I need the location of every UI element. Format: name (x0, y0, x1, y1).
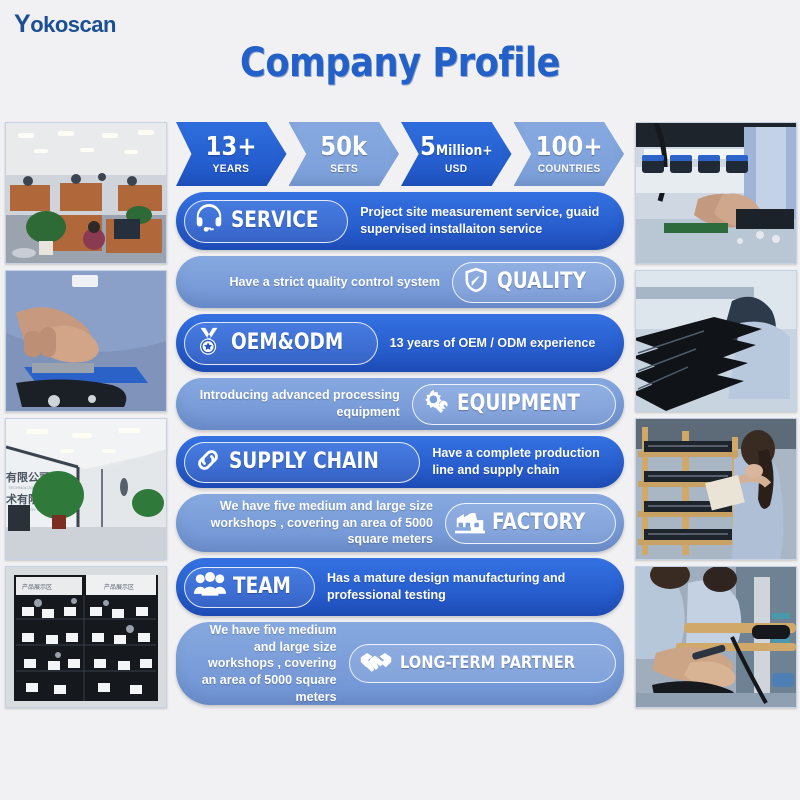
shield-icon (462, 266, 490, 299)
feature-description-supply-chain: Have a complete production line and supp… (422, 445, 618, 478)
feature-description-factory: We have five medium and large size works… (182, 498, 443, 548)
stat-revenue-suffix: + (482, 143, 492, 159)
people-icon (194, 571, 226, 604)
stat-sets-value: 50k (320, 134, 367, 160)
stat-revenue-number: 5 (420, 132, 436, 162)
stat-revenue-label: USD (445, 163, 467, 175)
handshake-icon (359, 648, 393, 679)
feature-row-long-term-partner: LONG-TERM PARTNER We have five medium an… (176, 622, 624, 705)
brand-logo-initial: Y (14, 10, 30, 38)
feature-description-equipment: Introducing advanced processing equipmen… (182, 387, 410, 420)
stat-years: 13+ YEARS (176, 122, 287, 186)
inspection-rack-worker-photo (635, 418, 797, 560)
brand-logo: Yokoscan (14, 10, 116, 39)
brand-logo-text: okoscan (30, 12, 116, 37)
factory-icon (455, 507, 485, 540)
feature-row-quality: QUALITY Have a strict quality control sy… (176, 256, 624, 308)
feature-description-long-term-partner: We have five medium and large size works… (182, 622, 347, 705)
stat-countries-label: COUNTRIES (537, 163, 600, 175)
feature-row-service: SERVICE Project site measurement service… (176, 192, 624, 250)
stat-sets: 50k SETS (289, 122, 400, 186)
finished-units-row-photo (635, 270, 797, 412)
feature-label-long-term-partner: LONG-TERM PARTNER (349, 644, 616, 683)
feature-label-text-supply-chain: SUPPLY CHAIN (229, 451, 379, 474)
svg-text:产品展示区: 产品展示区 (104, 583, 134, 591)
feature-description-quality: Have a strict quality control system (182, 274, 450, 291)
stat-years-suffix: + (238, 132, 257, 162)
feature-label-text-quality: QUALITY (497, 271, 586, 294)
feature-label-equipment: EQUIPMENT (412, 384, 616, 425)
assembly-line-worker-photo (635, 122, 797, 264)
feature-label-quality: QUALITY (452, 262, 616, 303)
feature-label-service: SERVICE (184, 200, 348, 243)
stat-years-number: 13 (206, 132, 238, 162)
open-plan-office-photo (5, 122, 167, 264)
feature-row-factory: FACTORY We have five medium and large si… (176, 494, 624, 552)
stat-years-value: 13+ (206, 134, 257, 160)
stat-revenue: 5Million+ USD (401, 122, 512, 186)
technician-assembling-device-photo (5, 270, 167, 412)
feature-label-text-factory: FACTORY (492, 512, 585, 535)
workers-testing-bench-photo (635, 566, 797, 708)
svg-text:产品展示区: 产品展示区 (22, 583, 52, 591)
feature-row-supply-chain: SUPPLY CHAIN Have a complete production … (176, 436, 624, 488)
stat-countries: 100+ COUNTRIES (514, 122, 625, 186)
product-display-cabinet-photo: 产品展示区产品展示区 (5, 566, 167, 708)
feature-description-service: Project site measurement service, guaid … (350, 204, 618, 237)
feature-label-text-long-term-partner: LONG-TERM PARTNER (400, 655, 575, 673)
feature-row-team: TEAM Has a mature design manufacturing a… (176, 558, 624, 616)
feature-label-text-oem-odm: OEM&ODM (231, 332, 343, 355)
office-corridor-photo: 有限公司术有限公司 TECHNOLOGY CO., LTDTECHNOLOGY … (5, 418, 167, 560)
feature-label-factory: FACTORY (445, 503, 616, 544)
feature-row-equipment: EQUIPMENT Introducing advanced processin… (176, 378, 624, 430)
stat-sets-number: 50k (320, 132, 367, 162)
chain-link-icon (194, 446, 222, 479)
feature-label-supply-chain: SUPPLY CHAIN (184, 442, 420, 483)
stat-countries-number: 100 (535, 132, 583, 162)
profile-content: 13+ YEARS 50k SETS 5Million+ USD 100+ CO… (176, 122, 624, 705)
stat-years-label: YEARS (213, 163, 250, 175)
stat-countries-value: 100+ (535, 134, 602, 160)
stats-row: 13+ YEARS 50k SETS 5Million+ USD 100+ CO… (176, 122, 624, 186)
stat-revenue-unit: Million (436, 143, 482, 159)
feature-row-oem-odm: OEM&ODM 13 years of OEM / ODM experience (176, 314, 624, 372)
stat-sets-label: SETS (330, 163, 358, 175)
gear-wrench-icon (422, 388, 450, 421)
stat-countries-suffix: + (583, 132, 602, 162)
feature-label-text-service: SERVICE (231, 210, 319, 233)
medal-icon (194, 326, 224, 361)
feature-description-oem-odm: 13 years of OEM / ODM experience (380, 335, 618, 352)
left-photo-column: 有限公司术有限公司 TECHNOLOGY CO., LTDTECHNOLOGY … (5, 122, 165, 708)
feature-label-text-equipment: EQUIPMENT (457, 393, 580, 416)
feature-description-team: Has a mature design manufacturing and pr… (317, 570, 618, 603)
right-photo-column (635, 122, 795, 708)
headset-icon (194, 204, 224, 239)
feature-label-text-team: TEAM (233, 576, 291, 599)
stat-revenue-value: 5Million+ (420, 134, 493, 160)
page-title: Company Profile (48, 40, 752, 86)
feature-label-oem-odm: OEM&ODM (184, 322, 378, 365)
feature-label-team: TEAM (184, 567, 315, 608)
